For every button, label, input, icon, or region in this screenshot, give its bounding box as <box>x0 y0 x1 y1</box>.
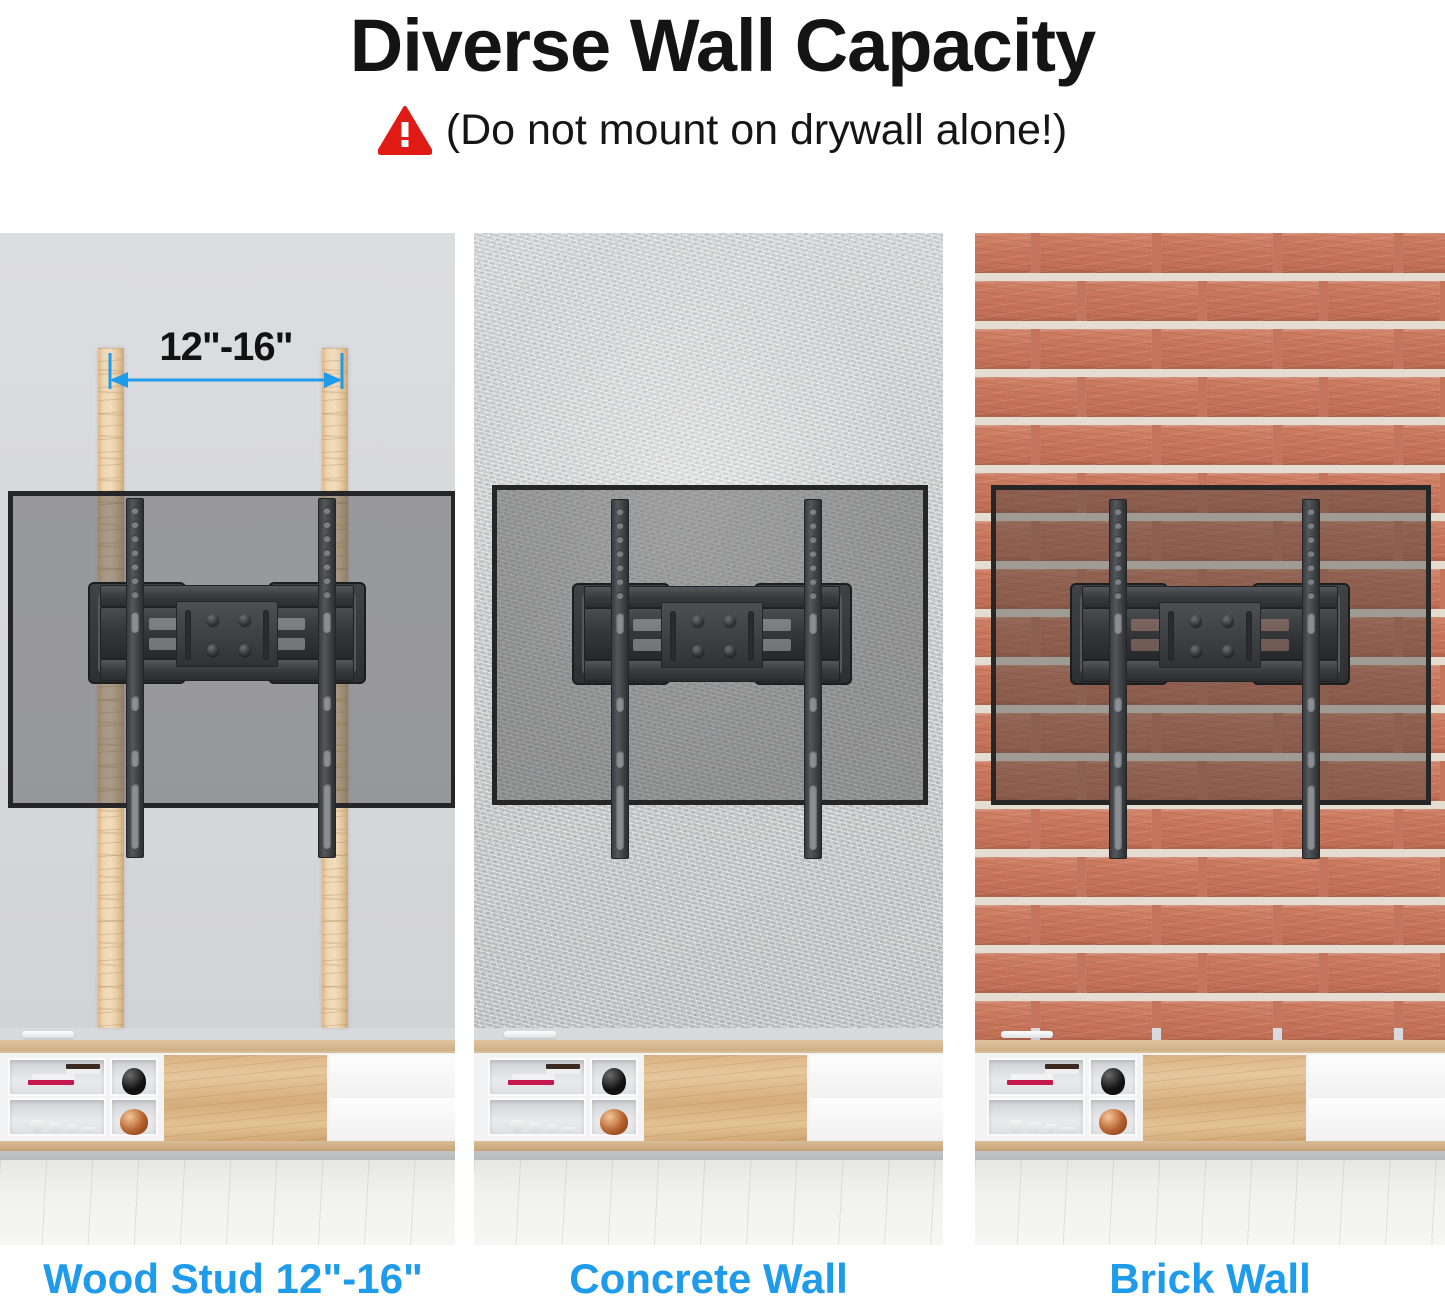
bowl <box>562 1127 576 1133</box>
tv-stand <box>0 1028 455 1245</box>
stand-top-surface <box>474 1040 943 1051</box>
mount-bolt <box>1222 615 1234 627</box>
bowl <box>1061 1127 1075 1133</box>
stand-top-surface <box>975 1040 1445 1051</box>
mount-bolt <box>692 615 704 627</box>
remote-control <box>1001 1031 1053 1038</box>
book <box>66 1064 100 1069</box>
tv-stand <box>474 1028 943 1245</box>
bowl <box>1027 1122 1041 1133</box>
bowl <box>510 1120 524 1133</box>
black-vase <box>1101 1068 1125 1095</box>
book <box>1007 1080 1053 1085</box>
white-drawer-top <box>810 1055 943 1099</box>
cubby-shelf <box>110 1098 158 1136</box>
plate-slot <box>1168 611 1174 661</box>
subtitle-row: (Do not mount on drywall alone!) <box>0 104 1445 156</box>
floor <box>0 1160 455 1245</box>
bowl <box>82 1127 96 1133</box>
stand-plinth <box>975 1141 1445 1151</box>
stand-top-surface <box>0 1040 455 1051</box>
stand-plinth <box>474 1141 943 1151</box>
book <box>1045 1064 1079 1069</box>
panel-wood-stud: 12"-16" <box>0 233 455 1245</box>
plate-slot <box>185 610 191 660</box>
book <box>28 1080 74 1085</box>
vertical-rail-right <box>318 498 336 858</box>
header: Diverse Wall Capacity (Do not mount on d… <box>0 0 1445 225</box>
white-drawer-bottom <box>810 1098 943 1142</box>
center-mounting-plate <box>661 602 763 668</box>
cubby-shelf <box>590 1058 638 1096</box>
bowl <box>66 1124 78 1133</box>
mount-bolt <box>1222 645 1234 657</box>
subtitle-text: (Do not mount on drywall alone!) <box>446 104 1067 156</box>
floor <box>474 1160 943 1245</box>
mount-bolt <box>724 645 736 657</box>
cubby-shelf <box>987 1058 1085 1096</box>
cubby-shelf <box>110 1058 158 1096</box>
white-drawer-top <box>330 1055 455 1099</box>
book <box>546 1064 580 1069</box>
white-drawer-bottom <box>330 1098 455 1142</box>
book <box>32 1074 74 1080</box>
caption-concrete: Concrete Wall <box>474 1248 943 1310</box>
cubby-shelf <box>1089 1058 1137 1096</box>
book <box>508 1080 554 1085</box>
cubby-shelf <box>488 1098 586 1136</box>
copper-vase <box>1099 1109 1127 1135</box>
remote-control <box>22 1031 74 1038</box>
cubby-shelf <box>8 1098 106 1136</box>
vertical-rail-left <box>611 499 629 859</box>
tv-mount-assembly <box>0 233 455 1028</box>
black-vase <box>122 1068 146 1095</box>
plate-slot <box>263 610 269 660</box>
copper-vase <box>600 1109 628 1135</box>
mount-bolt <box>239 614 251 626</box>
black-vase <box>602 1068 626 1095</box>
vertical-rail-right <box>804 499 822 859</box>
bowl <box>1045 1124 1057 1133</box>
plate-slot <box>670 611 676 661</box>
cubby-shelf <box>590 1098 638 1136</box>
bowl <box>528 1122 542 1133</box>
cubby-shelf <box>1089 1098 1137 1136</box>
bowl <box>1009 1120 1023 1133</box>
center-mounting-plate <box>1159 602 1261 668</box>
tv-mount-assembly <box>975 233 1445 1028</box>
vertical-rail-left <box>1109 499 1127 859</box>
bowl <box>546 1124 558 1133</box>
mount-bolt <box>239 644 251 656</box>
remote-control <box>504 1031 556 1038</box>
center-mounting-plate <box>176 601 278 667</box>
mount-bolt <box>1190 645 1202 657</box>
cubby-shelf <box>488 1058 586 1096</box>
mount-bolt <box>1190 615 1202 627</box>
caption-brick: Brick Wall <box>975 1248 1445 1310</box>
stand-body <box>474 1051 943 1143</box>
wood-cabinet-door <box>164 1055 327 1141</box>
plate-slot <box>1246 611 1252 661</box>
cubby-shelf <box>8 1058 106 1096</box>
plate-slot <box>748 611 754 661</box>
stand-body <box>0 1051 455 1143</box>
book <box>1011 1074 1053 1080</box>
panel-brick <box>975 233 1445 1245</box>
wood-cabinet-door <box>1143 1055 1306 1141</box>
tv-mount-assembly <box>474 233 943 1028</box>
tv-stand <box>975 1028 1445 1245</box>
bowl <box>48 1122 62 1133</box>
vertical-rail-left <box>126 498 144 858</box>
white-drawer-top <box>1309 1055 1445 1099</box>
caption-row: Wood Stud 12"-16" Concrete Wall Brick Wa… <box>0 1248 1445 1316</box>
warning-triangle-icon <box>378 105 432 155</box>
wood-cabinet-door <box>644 1055 807 1141</box>
white-drawer-bottom <box>1309 1098 1445 1142</box>
vertical-rail-right <box>1302 499 1320 859</box>
caption-wood-stud: Wood Stud 12"-16" <box>0 1248 466 1310</box>
cubby-shelf <box>987 1098 1085 1136</box>
copper-vase <box>120 1109 148 1135</box>
stand-plinth <box>0 1141 455 1151</box>
panel-row: 12"-16" <box>0 233 1445 1245</box>
bowl <box>30 1120 44 1133</box>
floor <box>975 1160 1445 1245</box>
mount-bolt <box>724 615 736 627</box>
mount-bolt <box>692 645 704 657</box>
stand-body <box>975 1051 1445 1143</box>
mount-bolt <box>207 644 219 656</box>
mount-bolt <box>207 614 219 626</box>
page-title: Diverse Wall Capacity <box>0 2 1445 90</box>
book <box>512 1074 554 1080</box>
panel-concrete <box>474 233 943 1245</box>
